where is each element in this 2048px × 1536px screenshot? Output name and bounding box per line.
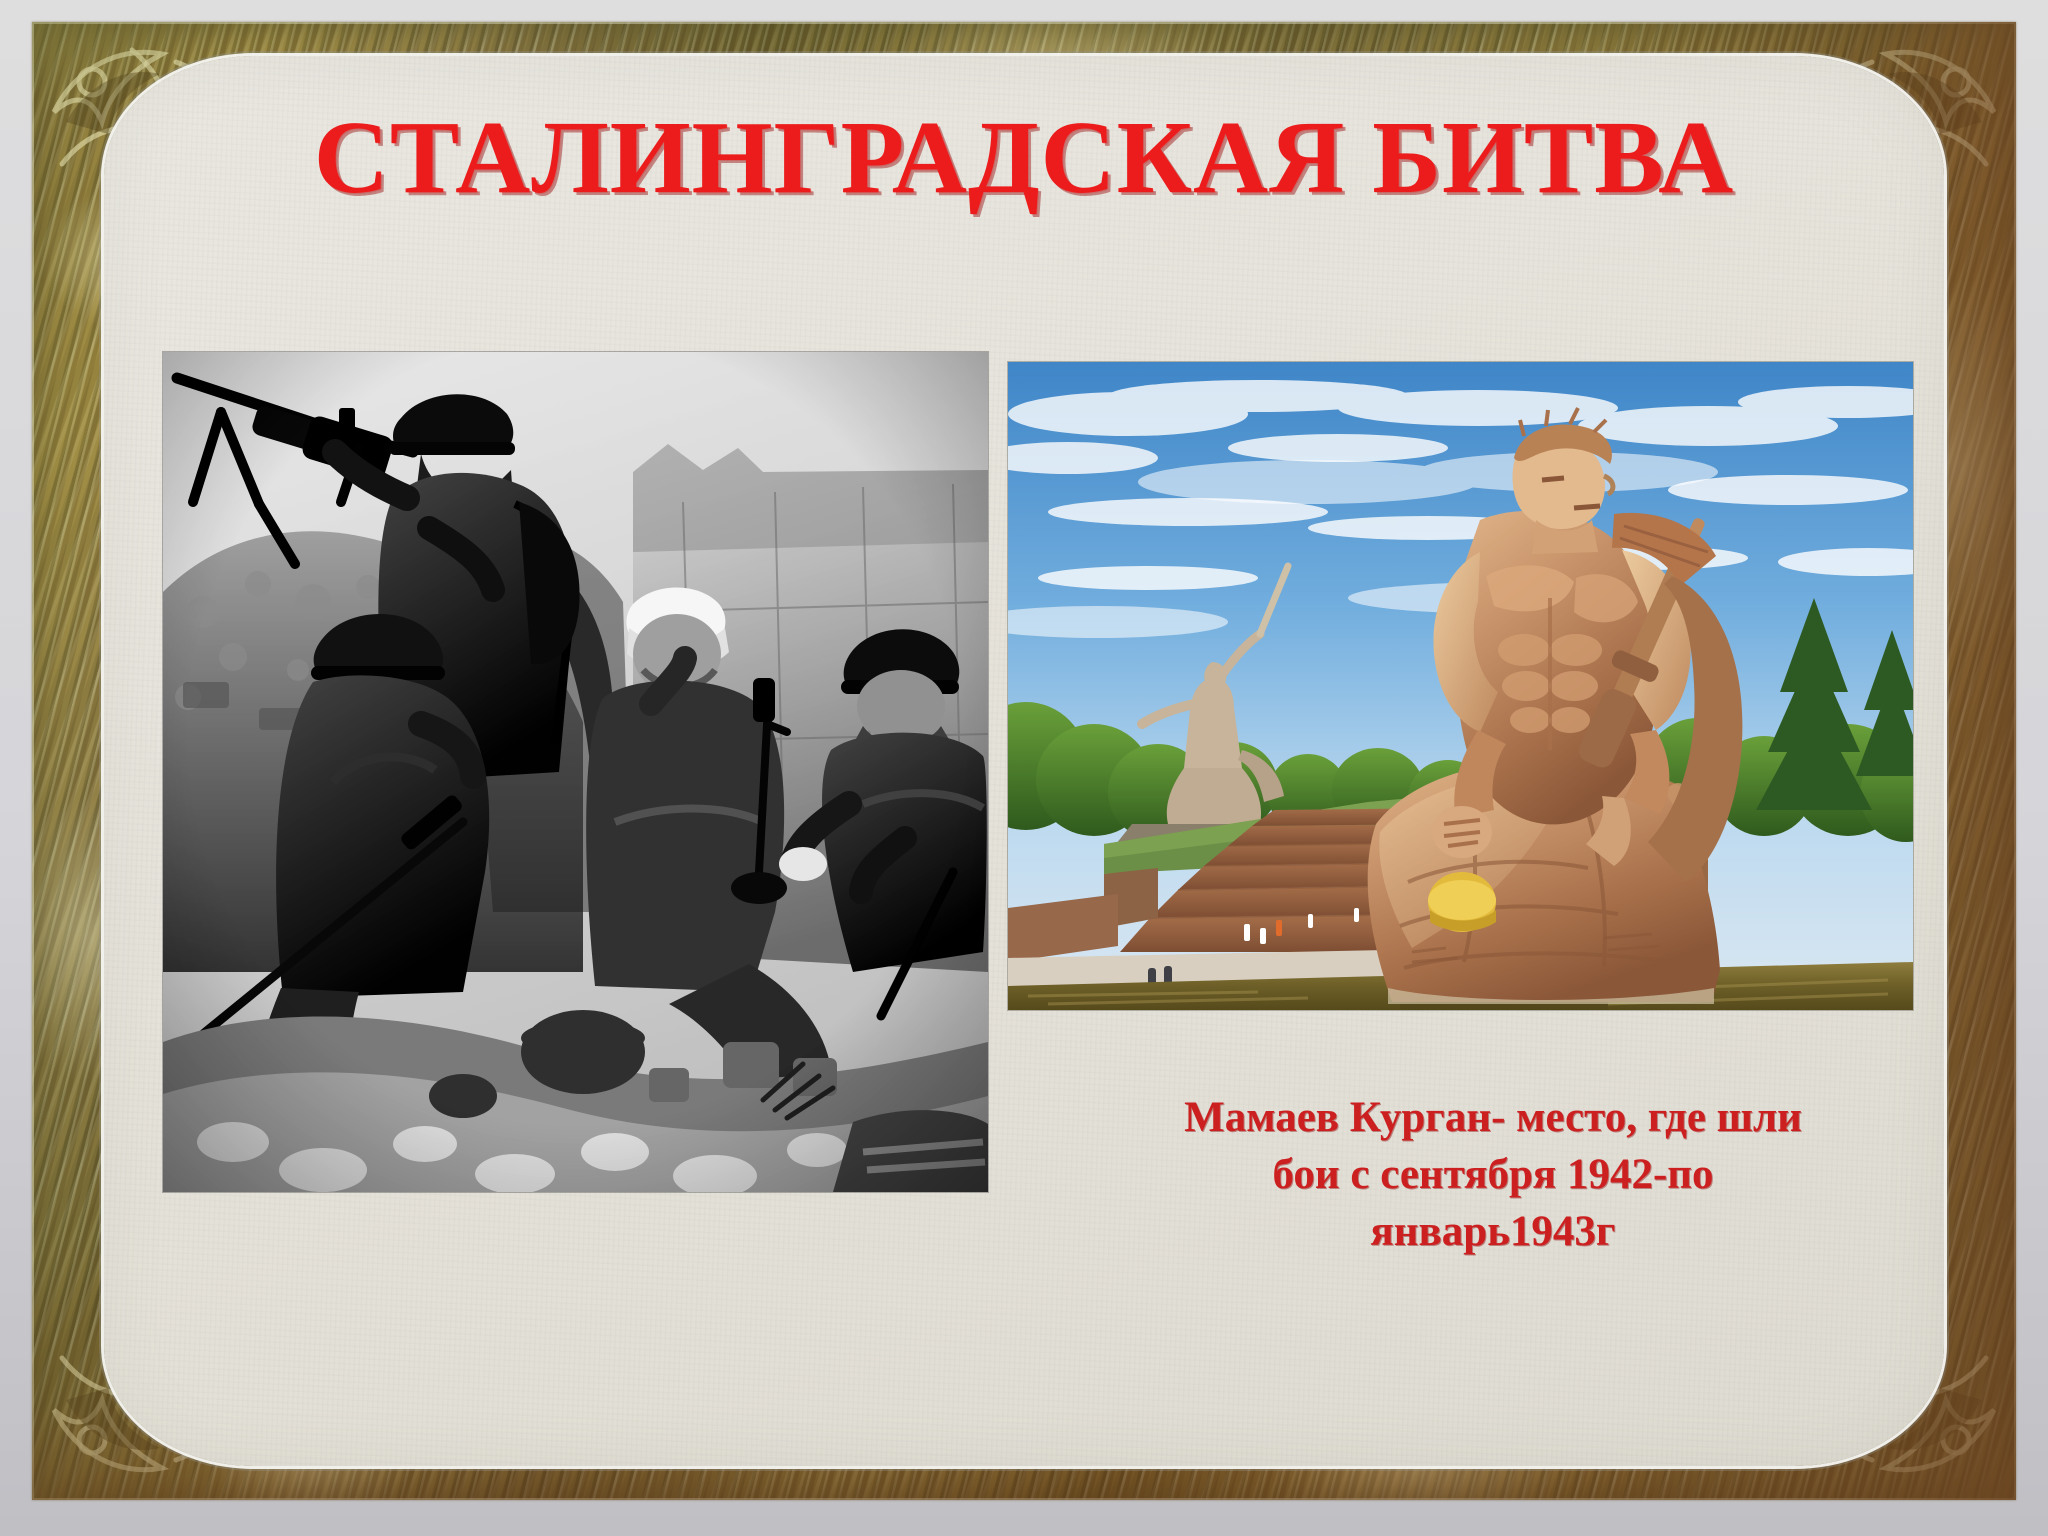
caption-line-2: бои с сентября 1942-по: [1078, 1147, 1908, 1204]
image-caption: Мамаев Курган- место, где шли бои с сент…: [1078, 1090, 1908, 1260]
mamayev-kurgan-artwork: [1008, 362, 1913, 1010]
caption-line-3: январь1943г: [1078, 1204, 1908, 1261]
page-title: СТАЛИНГРАДСКАЯ БИТВА: [0, 106, 2048, 210]
mamayev-kurgan-photo: [1008, 362, 1913, 1010]
battle-photo-artwork: [163, 352, 988, 1192]
caption-line-1: Мамаев Курган- место, где шли: [1078, 1090, 1908, 1147]
slide-root: СТАЛИНГРАДСКАЯ БИТВА: [0, 0, 2048, 1536]
battle-photo: [163, 352, 988, 1192]
